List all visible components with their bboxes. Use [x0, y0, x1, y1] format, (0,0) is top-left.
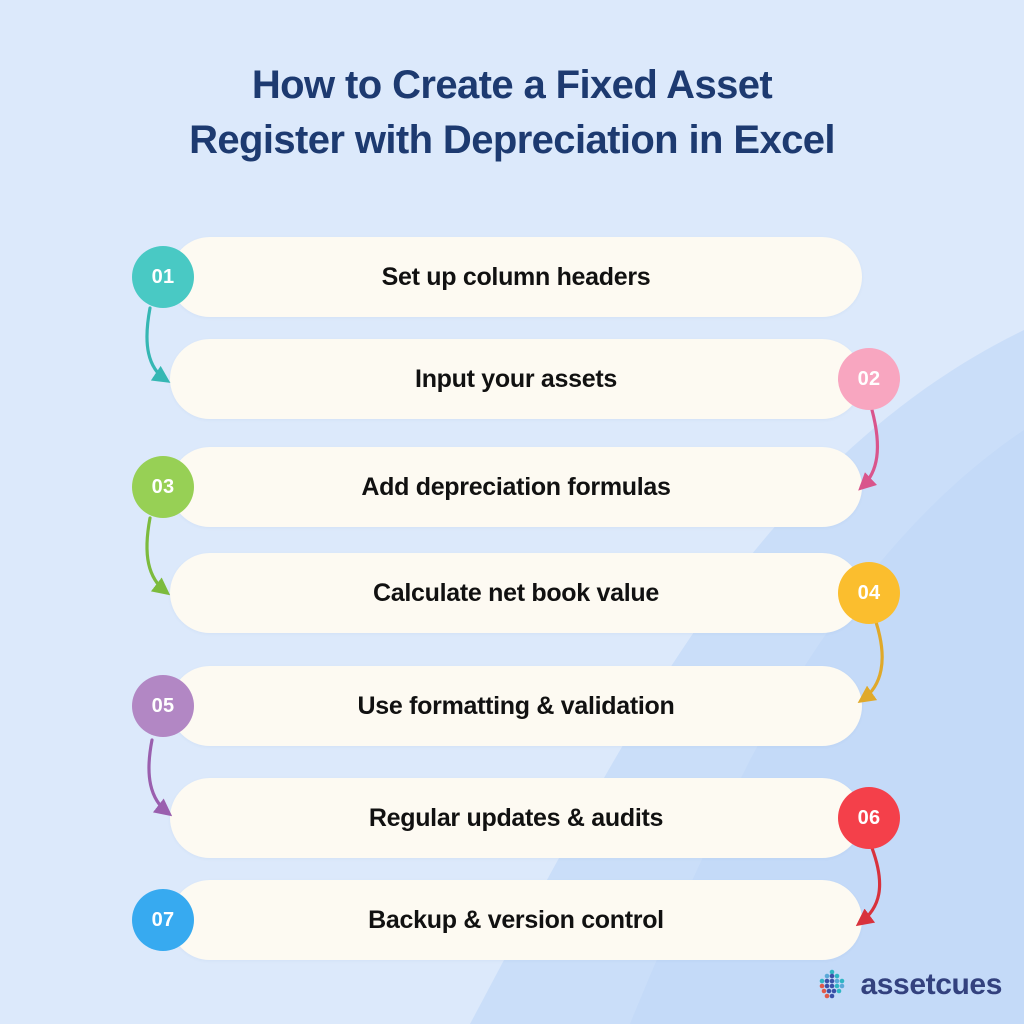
step-number-04: 04 [858, 582, 881, 605]
step-badge-06[interactable]: 06 [838, 787, 900, 849]
infographic-canvas: How to Create a Fixed Asset Register wit… [0, 0, 1024, 1024]
step-label-05: Use formatting & validation [268, 692, 765, 721]
step-label-04: Calculate net book value [283, 579, 749, 608]
step-row-05[interactable]: Use formatting & validation 05 [170, 666, 862, 746]
step-label-03: Add depreciation formulas [271, 473, 760, 502]
step-badge-05[interactable]: 05 [132, 675, 194, 737]
step-card-02[interactable]: Input your assets [170, 339, 862, 419]
step-badge-03[interactable]: 03 [132, 456, 194, 518]
step-label-06: Regular updates & audits [279, 804, 753, 833]
step-badge-02[interactable]: 02 [838, 348, 900, 410]
step-card-01[interactable]: Set up column headers [170, 237, 862, 317]
step-badge-07[interactable]: 07 [132, 889, 194, 951]
step-row-03[interactable]: Add depreciation formulas 03 [170, 447, 862, 527]
assetcues-diamond-dots-icon [814, 968, 850, 1002]
brand-logo[interactable]: assetcues [814, 968, 1002, 1002]
brand-wordmark: assetcues [860, 968, 1002, 1002]
steps-list: Set up column headers 01 Input your asse… [0, 0, 1024, 1024]
step-number-05: 05 [152, 695, 175, 718]
step-card-06[interactable]: Regular updates & audits [170, 778, 862, 858]
step-card-03[interactable]: Add depreciation formulas [170, 447, 862, 527]
step-label-07: Backup & version control [278, 906, 754, 935]
step-badge-04[interactable]: 04 [838, 562, 900, 624]
step-card-07[interactable]: Backup & version control [170, 880, 862, 960]
step-number-02: 02 [858, 368, 881, 391]
step-label-02: Input your assets [325, 365, 707, 394]
step-number-07: 07 [152, 909, 175, 932]
step-number-06: 06 [858, 807, 881, 830]
step-number-01: 01 [152, 266, 175, 289]
step-row-06[interactable]: Regular updates & audits 06 [170, 778, 862, 858]
step-card-05[interactable]: Use formatting & validation [170, 666, 862, 746]
step-row-02[interactable]: Input your assets 02 [170, 339, 862, 419]
step-number-03: 03 [152, 476, 175, 499]
step-row-04[interactable]: Calculate net book value 04 [170, 553, 862, 633]
step-card-04[interactable]: Calculate net book value [170, 553, 862, 633]
step-row-07[interactable]: Backup & version control 07 [170, 880, 862, 960]
step-row-01[interactable]: Set up column headers 01 [170, 237, 862, 317]
step-badge-01[interactable]: 01 [132, 246, 194, 308]
step-label-01: Set up column headers [292, 263, 741, 292]
